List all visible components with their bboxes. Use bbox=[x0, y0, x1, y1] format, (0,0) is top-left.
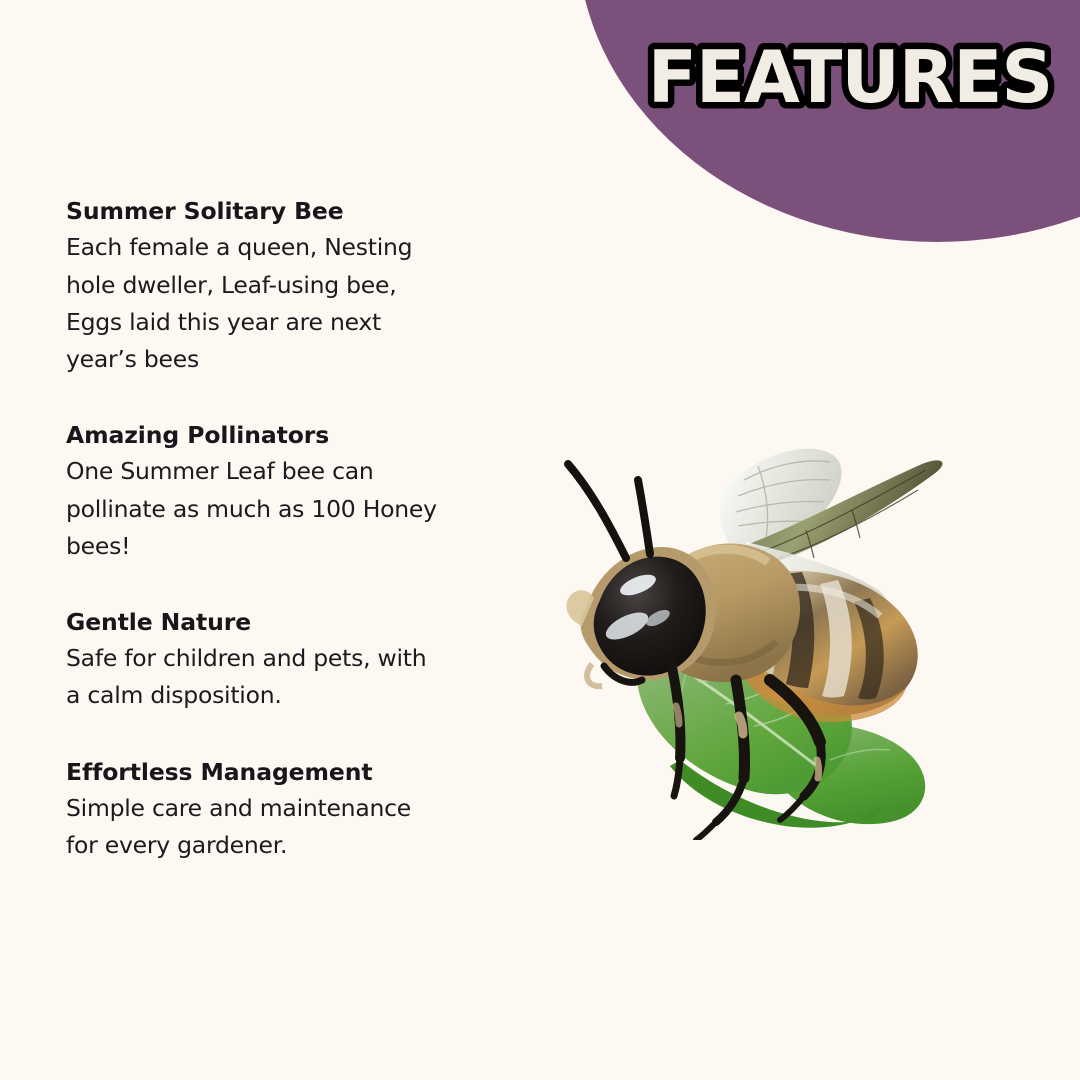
bee-on-leaf-image bbox=[530, 430, 1000, 840]
feature-list: Summer Solitary Bee Each female a queen,… bbox=[66, 196, 496, 890]
feature-heading: Effortless Management bbox=[66, 757, 496, 788]
bee-antennae bbox=[568, 464, 650, 558]
page-title-fill: FEATURES bbox=[648, 35, 1053, 119]
feature-body: One Summer Leaf bee can pollinate as muc… bbox=[66, 453, 496, 564]
feature-heading: Summer Solitary Bee bbox=[66, 196, 496, 227]
feature-body: Safe for children and pets, with a calm … bbox=[66, 640, 496, 714]
feature-item-gentle-nature: Gentle Nature Safe for children and pets… bbox=[66, 607, 496, 715]
feature-heading: Gentle Nature bbox=[66, 607, 496, 638]
feature-heading: Amazing Pollinators bbox=[66, 420, 496, 451]
page-title: FEATURES FEATURES bbox=[640, 38, 1060, 124]
feature-item-amazing-pollinators: Amazing Pollinators One Summer Leaf bee … bbox=[66, 420, 496, 565]
feature-item-effortless-management: Effortless Management Simple care and ma… bbox=[66, 757, 496, 865]
feature-body: Simple care and maintenance for every ga… bbox=[66, 790, 496, 864]
feature-body: Each female a queen, Nesting hole dwelle… bbox=[66, 229, 496, 378]
feature-item-summer-solitary-bee: Summer Solitary Bee Each female a queen,… bbox=[66, 196, 496, 378]
features-poster: FEATURES FEATURES Summer Solitary Bee Ea… bbox=[0, 0, 1080, 1080]
